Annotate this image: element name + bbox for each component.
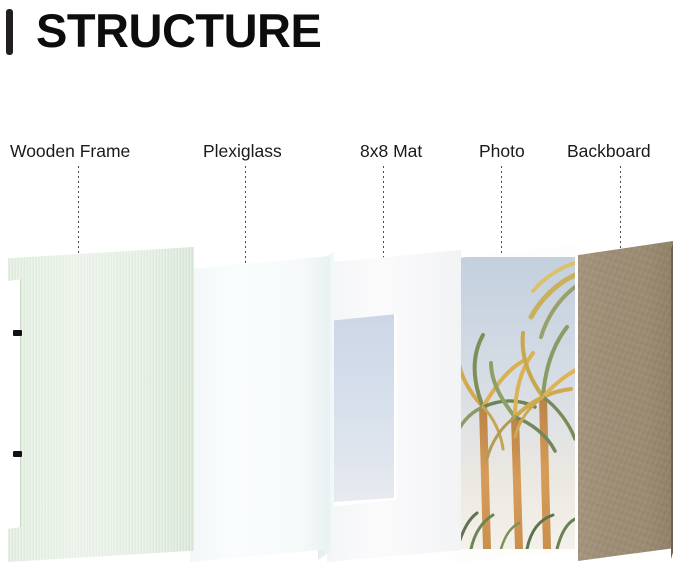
layer-wooden-frame [8, 247, 194, 562]
mat-window-opening [334, 312, 394, 502]
layer-plexiglass [190, 256, 330, 562]
palm-trees-illustration [457, 257, 575, 549]
exploded-view-diagram [0, 0, 679, 573]
photo-image [457, 257, 575, 549]
layer-backboard [578, 241, 673, 561]
frame-clip-upper [13, 330, 22, 336]
layer-photo [455, 245, 577, 563]
backboard-right-edge [671, 243, 673, 559]
frame-clip-lower [13, 451, 22, 457]
